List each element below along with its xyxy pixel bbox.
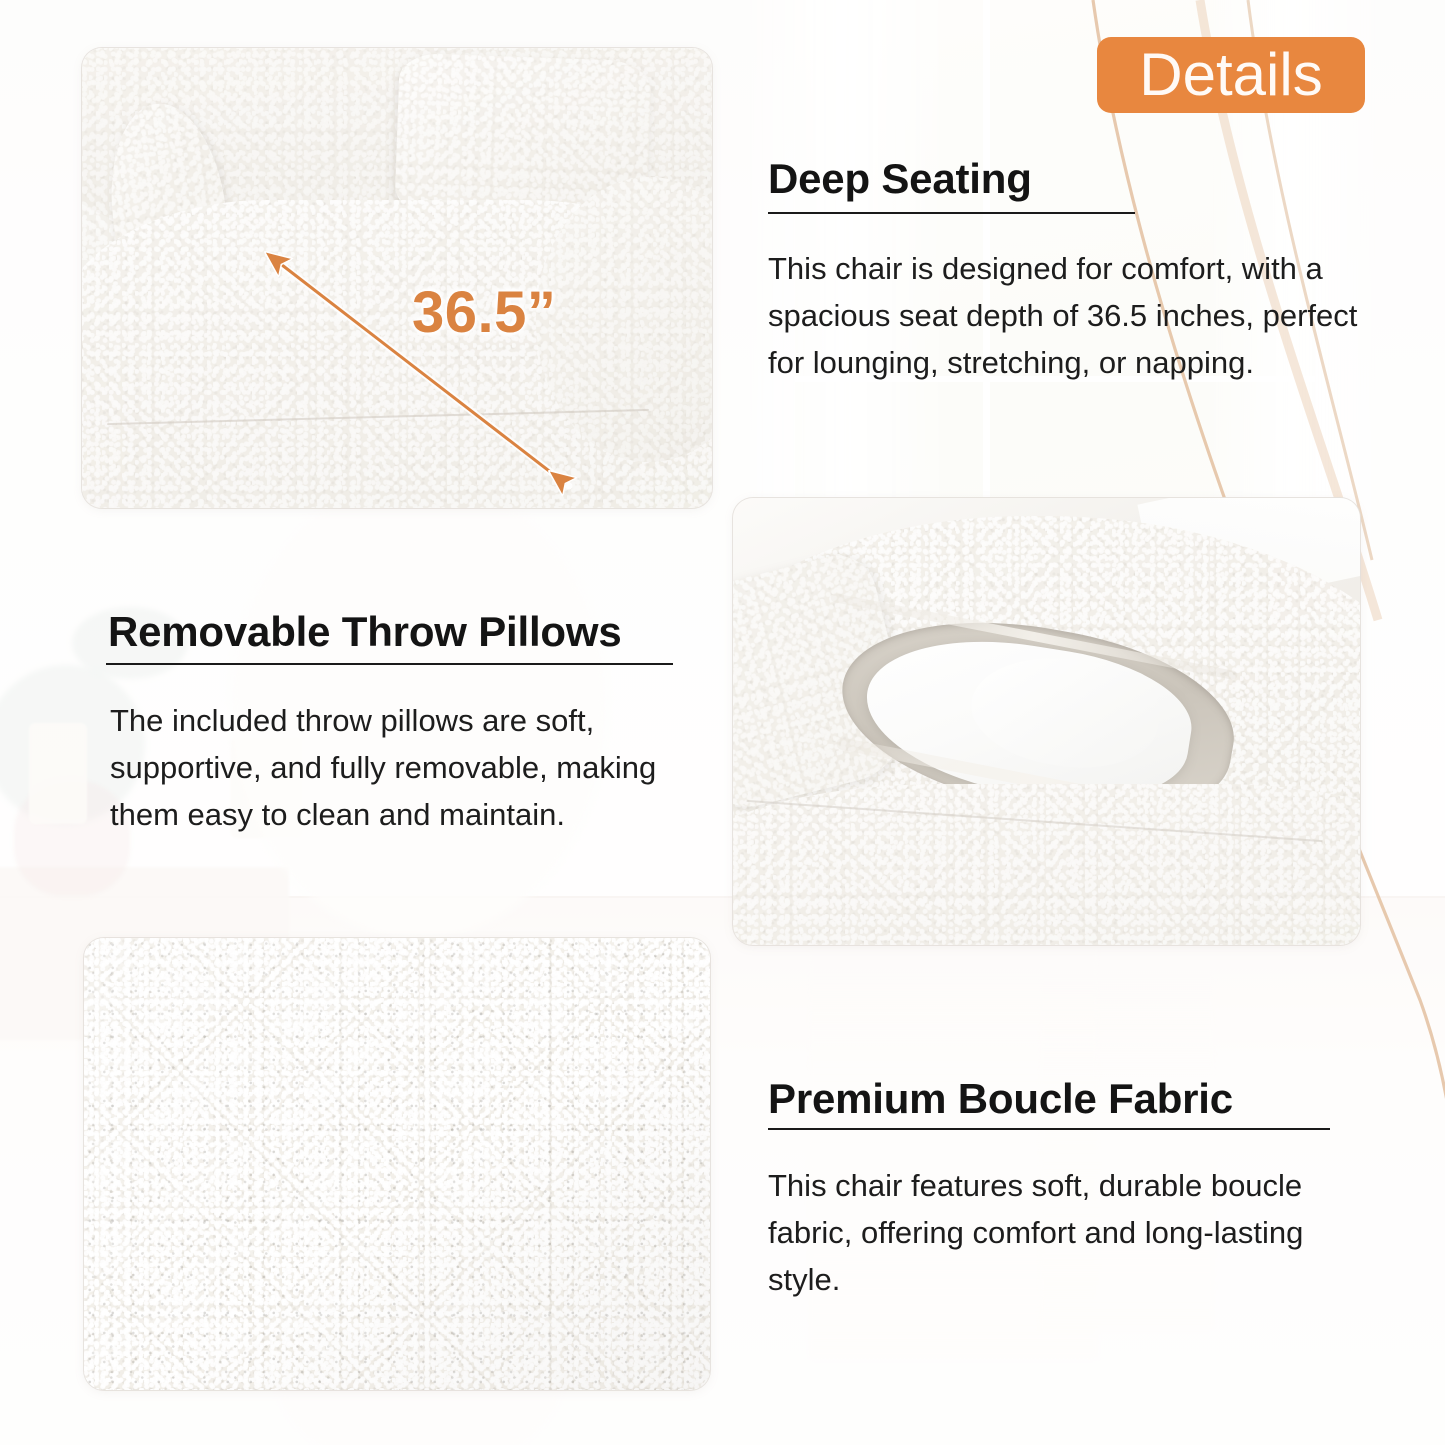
cushion-lower-texture xyxy=(733,784,1360,945)
details-badge: Details xyxy=(1097,37,1365,113)
section-body-removable-throw-pillows-text: The included throw pillows are soft, sup… xyxy=(110,697,680,838)
section-body-removable-throw-pillows: The included throw pillows are soft, sup… xyxy=(110,697,680,838)
cushion-lower-face xyxy=(733,784,1360,945)
seat-depth-arrow xyxy=(82,48,712,508)
swatch-shading xyxy=(84,938,710,1390)
seat-depth-label: 36.5” xyxy=(412,284,556,342)
product-detail-infographic: 36.5” Details Deep Seating This chair is… xyxy=(0,0,1445,1445)
seat-depth-value: 36.5” xyxy=(412,280,556,345)
fabric-swatch-photo xyxy=(84,938,710,1390)
section-heading-premium-boucle-fabric: Premium Boucle Fabric xyxy=(768,1075,1233,1123)
zipper-detail-photo xyxy=(733,498,1360,945)
section-rule-removable-throw-pillows xyxy=(106,663,673,665)
section-body-deep-seating: This chair is designed for comfort, with… xyxy=(768,245,1360,386)
section-rule-premium-boucle-fabric xyxy=(768,1128,1330,1130)
section-heading-removable-throw-pillows: Removable Throw Pillows xyxy=(108,608,622,656)
seat-depth-photo: 36.5” xyxy=(82,48,712,508)
section-body-premium-boucle-fabric-text: This chair features soft, durable boucle… xyxy=(768,1162,1360,1303)
section-body-deep-seating-text: This chair is designed for comfort, with… xyxy=(768,245,1360,386)
section-body-premium-boucle-fabric: This chair features soft, durable boucle… xyxy=(768,1162,1360,1303)
section-rule-deep-seating xyxy=(768,212,1135,214)
section-heading-deep-seating: Deep Seating xyxy=(768,155,1032,203)
details-badge-label: Details xyxy=(1139,45,1322,105)
